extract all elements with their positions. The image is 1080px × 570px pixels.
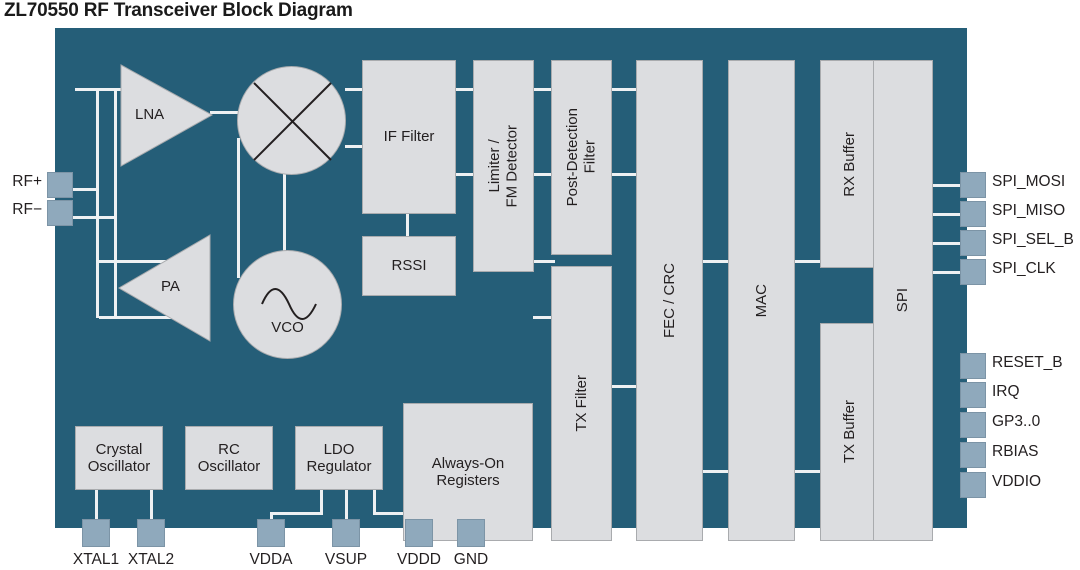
- post-detection-filter-label: Post-Detection Filter: [564, 108, 599, 206]
- pad-spi-clk: [960, 259, 986, 285]
- pin-label-spi-miso: SPI_MISO: [992, 202, 1065, 220]
- wire-ldo-stub-a: [320, 490, 323, 514]
- pin-label-rbias: RBIAS: [992, 443, 1039, 461]
- pad-vddd: [405, 519, 433, 547]
- limiter-line-1: Limiter /: [486, 139, 503, 192]
- pin-label-gp3-0: GP3..0: [992, 413, 1040, 431]
- pad-reset-b: [960, 353, 986, 379]
- spi-block: SPI: [873, 60, 933, 541]
- pa-amplifier: PA: [117, 233, 212, 343]
- wire-if-filter-to-rssi: [406, 213, 409, 238]
- ldo-line-1: LDO: [324, 441, 355, 458]
- ldo-regulator-label: LDO Regulator: [306, 441, 371, 476]
- lna-label: LNA: [135, 106, 164, 123]
- postdet-line-2: Filter: [582, 141, 599, 174]
- rssi-block: RSSI: [362, 236, 456, 296]
- wire-postdet-to-fec-2: [611, 173, 639, 176]
- chip-body: LNA IF Filter RSSI Limiter / FM Detector…: [55, 28, 967, 528]
- tx-filter-block: TX Filter: [551, 266, 612, 541]
- rc-line-1: RC: [218, 441, 240, 458]
- pin-label-spi-mosi: SPI_MOSI: [992, 173, 1065, 191]
- pin-label-rf-plus: RF+: [0, 173, 42, 191]
- rssi-label: RSSI: [391, 257, 426, 274]
- mac-block: MAC: [728, 60, 795, 541]
- pin-label-gnd: GND: [427, 551, 515, 569]
- always-on-line-1: Always-On: [432, 455, 505, 472]
- rx-buffer-label: RX Buffer: [841, 132, 858, 197]
- wire-postdet-to-fec: [611, 88, 639, 91]
- wire-fec-to-mac-2: [703, 470, 731, 473]
- crystal-line-1: Crystal: [96, 441, 143, 458]
- pa-label: PA: [161, 278, 180, 295]
- wire-ldo-stub-b: [373, 490, 376, 514]
- crystal-line-2: Oscillator: [88, 458, 151, 475]
- pin-label-vddio: VDDIO: [992, 473, 1041, 491]
- pad-gnd: [457, 519, 485, 547]
- tx-buffer-block: TX Buffer: [820, 323, 880, 541]
- ldo-regulator-block: LDO Regulator: [295, 426, 383, 490]
- pad-rf-minus: [47, 200, 73, 226]
- if-filter-label: IF Filter: [384, 128, 435, 145]
- pad-gp3-0: [960, 412, 986, 438]
- wire-ldo-run-a: [270, 512, 323, 515]
- wire-txfilter-input-top: [533, 260, 555, 263]
- pin-label-reset-b: RESET_B: [992, 354, 1063, 372]
- pad-spi-miso: [960, 201, 986, 227]
- mixer-symbol: [237, 66, 346, 175]
- wire-fec-to-mac: [703, 260, 731, 263]
- rc-oscillator-label: RC Oscillator: [198, 441, 261, 476]
- tx-filter-label: TX Filter: [573, 375, 590, 432]
- pin-label-xtal2: XTAL2: [107, 551, 195, 569]
- rc-oscillator-block: RC Oscillator: [185, 426, 273, 490]
- wire-mac-to-rx-buffer: [795, 260, 823, 263]
- pad-irq: [960, 382, 986, 408]
- limiter-fm-detector-block: Limiter / FM Detector: [473, 60, 534, 272]
- fec-crc-label: FEC / CRC: [661, 263, 678, 338]
- always-on-registers-label: Always-On Registers: [432, 455, 505, 490]
- spi-label: SPI: [894, 288, 911, 312]
- vco-symbol: VCO: [233, 250, 342, 359]
- mac-label: MAC: [753, 284, 770, 317]
- always-on-line-2: Registers: [436, 472, 499, 489]
- wire-mac-to-tx-buffer: [795, 470, 823, 473]
- pad-xtal1: [82, 519, 110, 547]
- pad-spi-mosi: [960, 172, 986, 198]
- pad-vsup: [332, 519, 360, 547]
- fec-crc-block: FEC / CRC: [636, 60, 703, 541]
- tx-buffer-label: TX Buffer: [841, 400, 858, 463]
- pin-label-spi-sel-b: SPI_SEL_B: [992, 231, 1074, 249]
- pin-label-rf-minus: RF−: [0, 201, 42, 219]
- wire-rf-bus-vertical-a: [96, 88, 99, 318]
- pad-vdda: [257, 519, 285, 547]
- limiter-line-2: FM Detector: [504, 125, 521, 208]
- pad-xtal2: [137, 519, 165, 547]
- vco-label: VCO: [234, 319, 341, 336]
- crystal-oscillator-block: Crystal Oscillator: [75, 426, 163, 490]
- crystal-oscillator-label: Crystal Oscillator: [88, 441, 151, 476]
- pad-rf-plus: [47, 172, 73, 198]
- post-detection-filter-block: Post-Detection Filter: [551, 60, 612, 255]
- rc-line-2: Oscillator: [198, 458, 261, 475]
- limiter-fm-detector-label: Limiter / FM Detector: [486, 125, 521, 208]
- wire-txfilter-to-fec: [611, 385, 639, 388]
- lna-amplifier: LNA: [119, 63, 214, 168]
- rx-buffer-block: RX Buffer: [820, 60, 880, 268]
- pin-label-irq: IRQ: [992, 383, 1020, 401]
- pad-spi-sel-b: [960, 230, 986, 256]
- page-title: ZL70550 RF Transceiver Block Diagram: [4, 0, 353, 22]
- if-filter-block: IF Filter: [362, 60, 456, 214]
- postdet-line-1: Post-Detection: [564, 108, 581, 206]
- ldo-line-2: Regulator: [306, 458, 371, 475]
- pin-label-spi-clk: SPI_CLK: [992, 260, 1056, 278]
- pad-rbias: [960, 442, 986, 468]
- pad-vddio: [960, 472, 986, 498]
